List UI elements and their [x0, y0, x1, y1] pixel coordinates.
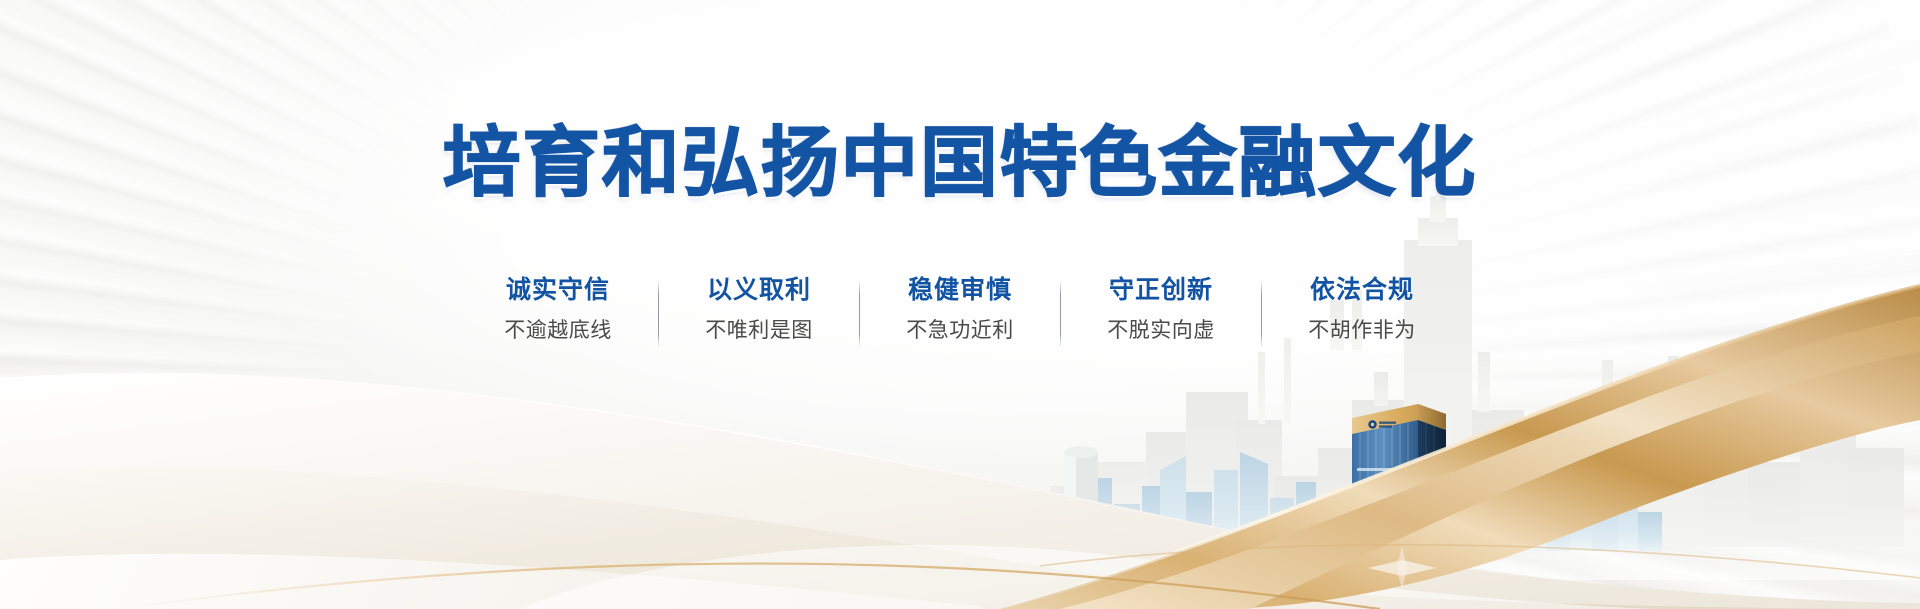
ribbon-body	[1000, 286, 1920, 609]
gold-ribbon-swoosh	[0, 0, 1920, 609]
banner-canvas: 培育和弘扬中国特色金融文化 诚实守信 不逾越底线 以义取利 不唯利是图 稳健审慎…	[0, 0, 1920, 609]
